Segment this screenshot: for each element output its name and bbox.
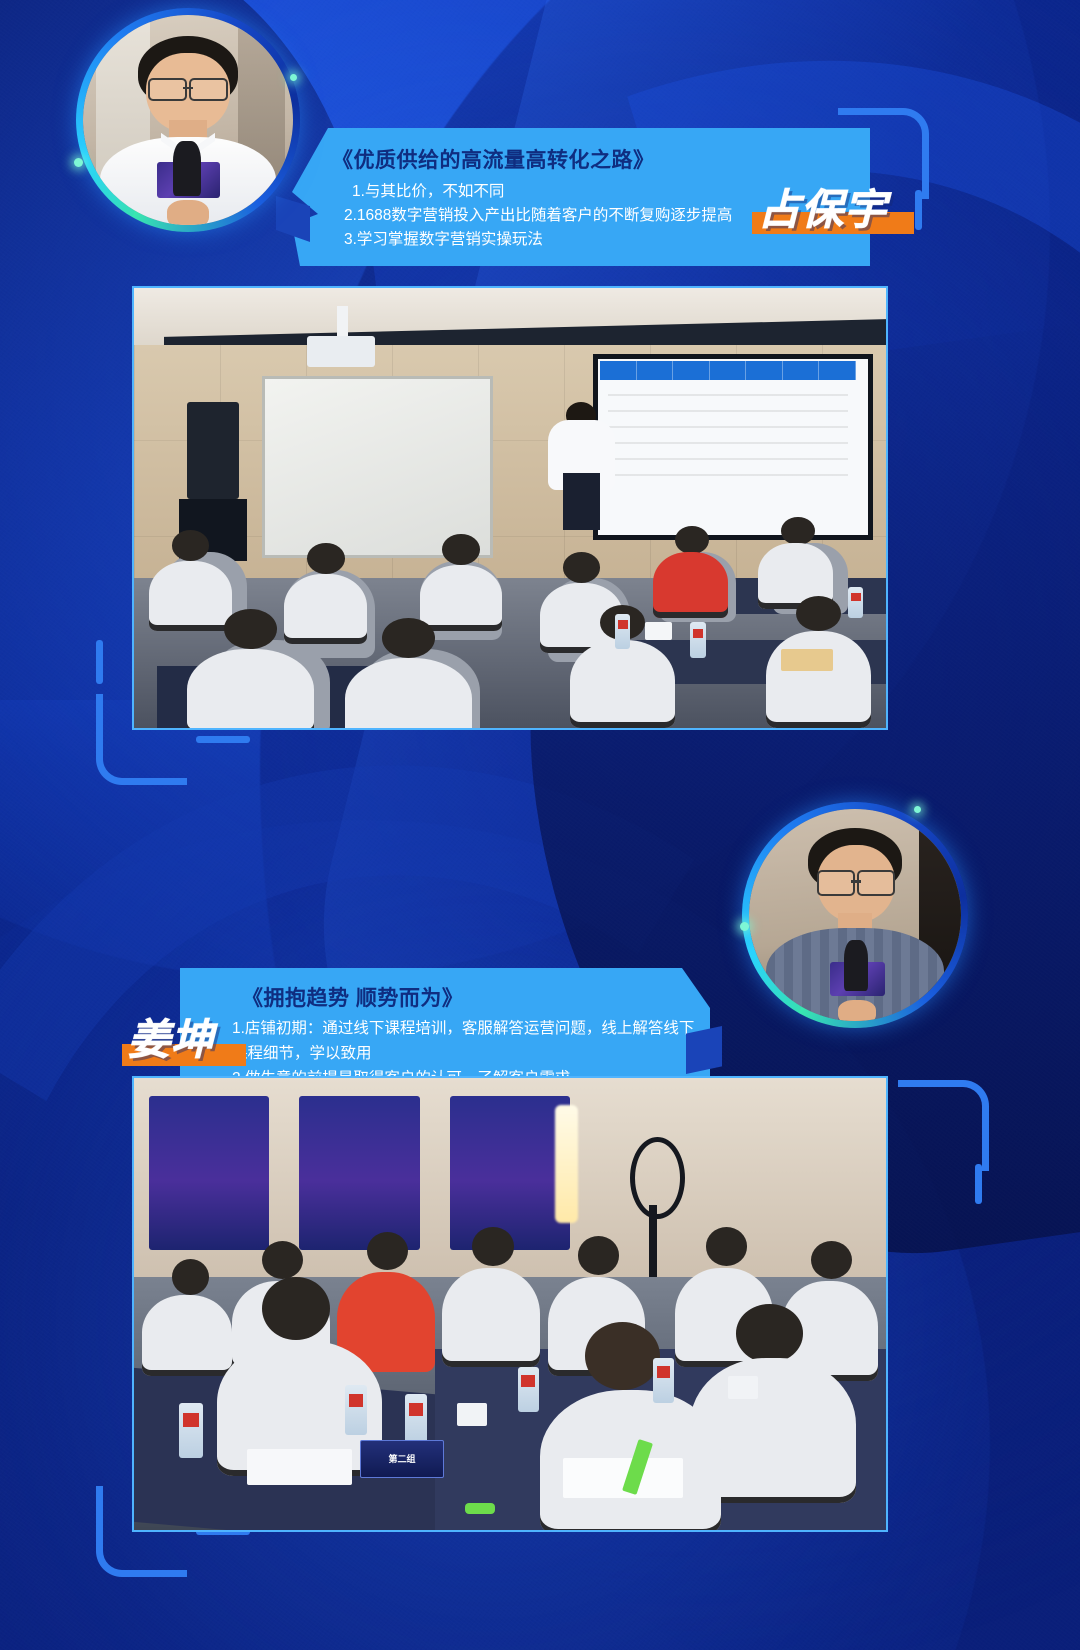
spark-dot-icon — [290, 74, 297, 81]
table-sign-label: 第二组 — [361, 1441, 444, 1477]
speaker-nameplate-2: 姜坤 — [122, 1006, 254, 1068]
corner-bracket-icon-top-left-2 — [0, 780, 92, 872]
speaker-name-2: 姜坤 — [128, 1006, 214, 1067]
talk-point: 3.学习掌握数字营销实操玩法 — [344, 228, 732, 252]
bracket-tick-bottom-1 — [196, 736, 250, 743]
corner-bracket-icon-top-right-2 — [898, 1080, 989, 1171]
callout-tail-2 — [686, 1026, 722, 1074]
talk-points-1: 1.与其比价，不如不同 2.1688数字营销投入产出比随着客户的不断复购逐步提高… — [344, 180, 732, 252]
speaker-section-1: 《优质供给的高流量高转化之路》 1.与其比价，不如不同 2.1688数字营销投入… — [0, 0, 1080, 780]
talk-title-1: 《优质供给的高流量高转化之路》 — [332, 144, 655, 174]
event-photo-2: 第二组 — [132, 1076, 888, 1532]
speaker-name-1: 占保宇 — [758, 176, 887, 237]
portrait-image-1 — [83, 15, 293, 225]
event-photo-1 — [132, 286, 888, 730]
bracket-tick-right-2 — [975, 1164, 982, 1204]
poster-canvas: 《优质供给的高流量高转化之路》 1.与其比价，不如不同 2.1688数字营销投入… — [0, 0, 1080, 1650]
talk-point: 1.与其比价，不如不同 — [352, 180, 732, 204]
speaker-portrait-2 — [742, 802, 968, 1028]
table-sign: 第二组 — [360, 1440, 445, 1478]
talk-point: 2.1688数字营销投入产出比随着客户的不断复购逐步提高 — [344, 204, 732, 228]
talk-title-2: 《拥抱趋势 顺势而为》 — [242, 982, 463, 1012]
talk-point: 1.店铺初期：通过线下课程培训，客服解答运营问题，线上解答线下课程细节，学以致用 — [232, 1016, 702, 1066]
spark-dot-icon — [740, 922, 749, 931]
speaker-nameplate-1: 占保宇 — [748, 178, 918, 238]
speaker-section-2: 《拥抱趋势 顺势而为》 1.店铺初期：通过线下课程培训，客服解答运营问题，线上解… — [0, 780, 1080, 1650]
portrait-image-2 — [749, 809, 961, 1021]
speaker-portrait-1 — [76, 8, 300, 232]
bracket-tick-left-1 — [96, 640, 103, 684]
spark-dot-icon — [74, 158, 83, 167]
spark-dot-icon — [914, 806, 921, 813]
